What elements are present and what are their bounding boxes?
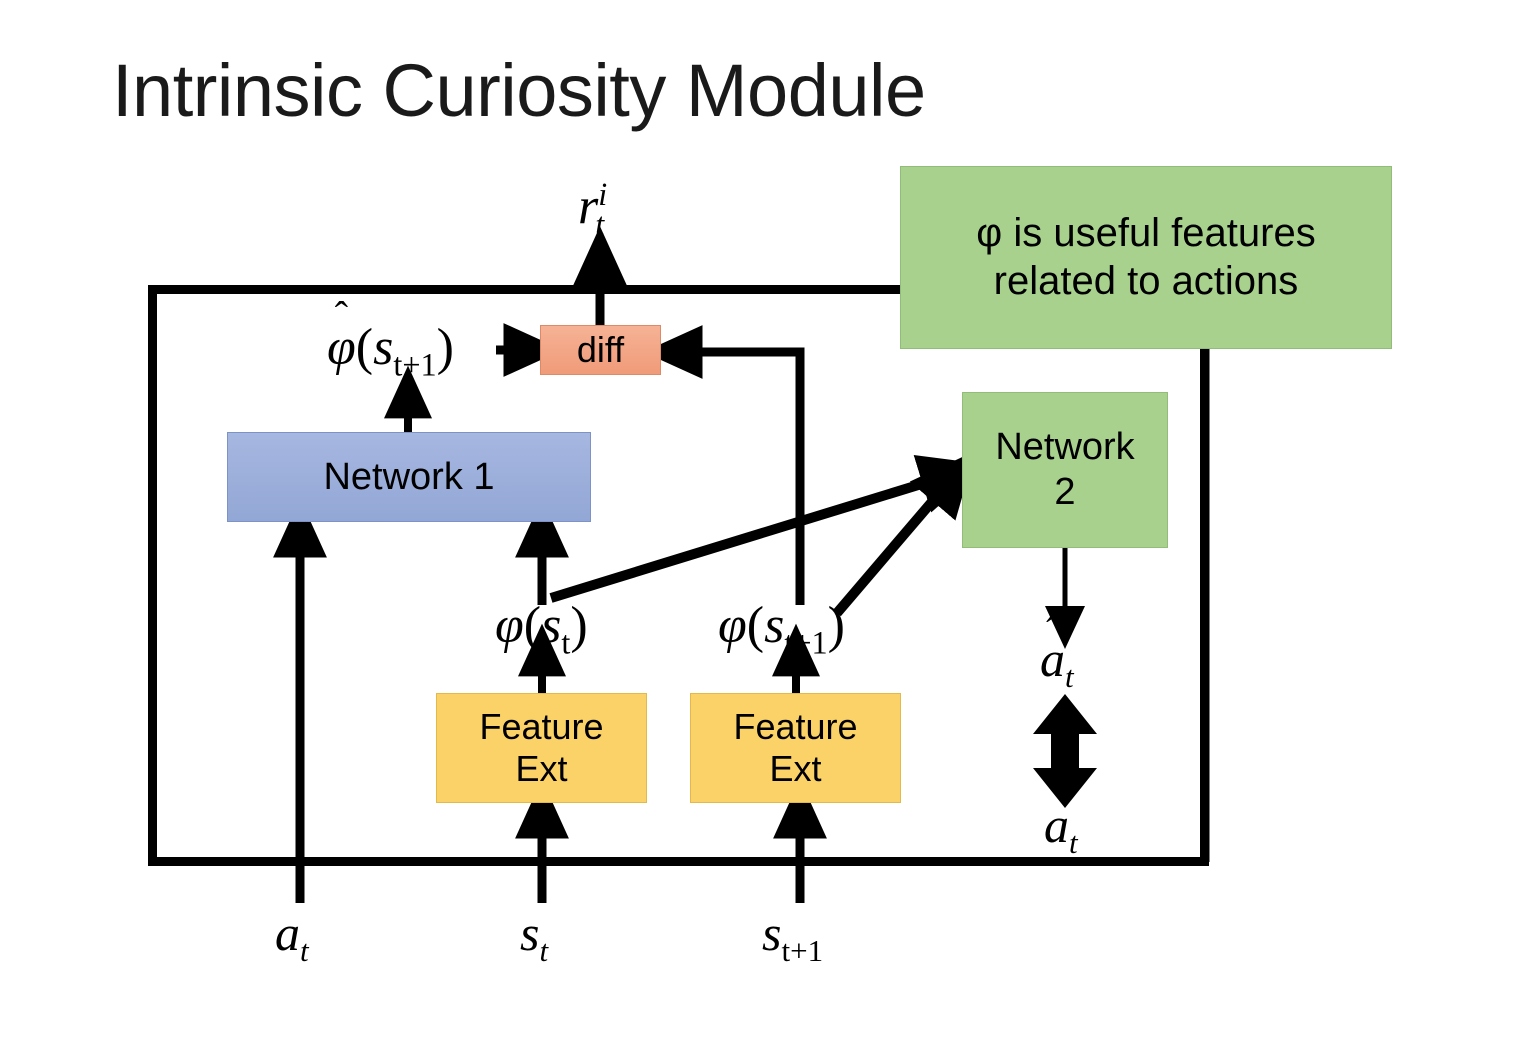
edge-phi-st-to-net2 <box>551 474 954 598</box>
node-network-2[interactable]: Network 2 <box>962 392 1168 548</box>
callout-line-2: related to actions <box>994 258 1299 305</box>
label-phi-s-t: φ(st) <box>495 600 588 659</box>
label-a-t-bottom-base: a <box>275 905 300 961</box>
label-a-t-bottom-sub: t <box>300 933 309 968</box>
node-feature-ext-2-label-line2: Ext <box>769 748 821 790</box>
label-phi-s-t-base: φ <box>495 597 524 654</box>
label-intrinsic-reward: rit <box>578 178 604 240</box>
node-feature-ext-1[interactable]: Feature Ext <box>436 693 647 803</box>
label-phi-hat-sub: t+1 <box>393 346 436 382</box>
label-phi-hat-s-t-plus-1: ̂φ(st+1) <box>327 322 454 381</box>
label-phi-s-t1-sub: t+1 <box>784 624 827 660</box>
label-a-hat-base: a <box>1040 631 1065 687</box>
label-a-t-right-sub: t <box>1069 825 1078 860</box>
label-a-t-right: at <box>1044 800 1078 858</box>
label-a-t-bottom: at <box>275 908 309 966</box>
label-intrinsic-reward-sub: t <box>595 206 604 242</box>
node-feature-ext-1-label-line2: Ext <box>515 748 567 790</box>
label-phi-s-t-arg: s <box>541 597 561 654</box>
label-a-hat-t: ̂at <box>1040 634 1074 692</box>
node-diff-label: diff <box>577 329 624 371</box>
label-s-t1-bottom-base: s <box>762 905 781 961</box>
label-phi-hat-arg: s <box>373 319 393 376</box>
label-s-t-bottom-sub: t <box>539 933 548 968</box>
label-a-t-right-base: a <box>1044 797 1069 853</box>
node-network-2-label-line1: Network <box>995 425 1134 470</box>
double-headed-arrow-ahat-at <box>1033 694 1097 808</box>
node-feature-ext-1-label-line1: Feature <box>479 706 603 748</box>
page-title: Intrinsic Curiosity Module <box>112 48 926 133</box>
label-s-t1-bottom-sub: t+1 <box>781 933 823 968</box>
node-network-1[interactable]: Network 1 <box>227 432 591 522</box>
edge-phi-st1-to-diff <box>673 352 800 605</box>
node-network-1-label: Network 1 <box>323 455 494 500</box>
callout-phi-useful-features: φ is useful features related to actions <box>900 166 1392 349</box>
node-feature-ext-2-label-line1: Feature <box>733 706 857 748</box>
node-feature-ext-2[interactable]: Feature Ext <box>690 693 901 803</box>
label-phi-s-t-sub: t <box>561 624 570 660</box>
label-a-hat-sub: t <box>1065 659 1074 694</box>
label-phi-s-t1-base: φ <box>718 597 747 654</box>
node-network-2-label-line2: 2 <box>1054 470 1075 515</box>
diagram-canvas <box>0 0 1540 1048</box>
node-diff[interactable]: diff <box>540 325 661 375</box>
label-s-t-plus-1-bottom: st+1 <box>762 908 823 966</box>
label-phi-s-t-plus-1: φ(st+1) <box>718 600 845 659</box>
callout-line-1: φ is useful features <box>976 210 1315 257</box>
label-phi-s-t1-arg: s <box>764 597 784 654</box>
label-s-t-bottom: st <box>520 908 548 966</box>
label-s-t-bottom-base: s <box>520 905 539 961</box>
label-phi-hat-base: φ <box>327 319 356 376</box>
